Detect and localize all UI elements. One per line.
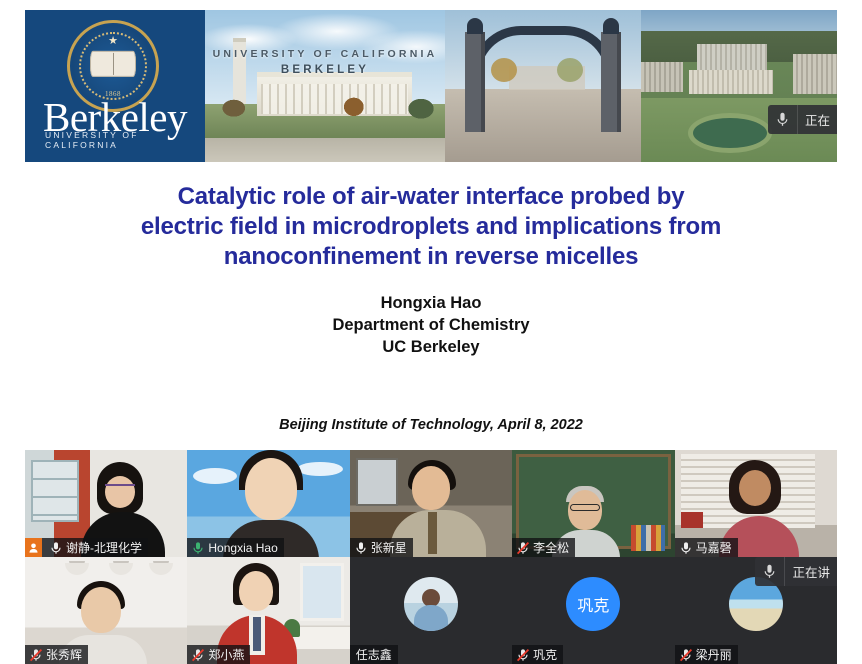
face <box>81 587 121 633</box>
participant-tile[interactable]: Hongxia Hao <box>187 450 349 557</box>
slide-title-line1: Catalytic role of air-water interface pr… <box>55 182 807 212</box>
slide-banner: ★ 1868 Berkeley UNIVERSITY OF CALIFORNIA… <box>25 10 837 162</box>
gate-lamp-left-icon <box>467 18 483 34</box>
participant-name: 巩克 <box>533 646 557 663</box>
participant-tile[interactable]: 张秀辉 <box>25 557 187 664</box>
oval-lawn <box>693 118 767 148</box>
microphone-icon <box>679 541 693 555</box>
participant-video-strip: 谢静-北理化学 <box>25 450 837 664</box>
slide-footer-venue-date: Beijing Institute of Technology, April 8… <box>25 417 837 433</box>
speaking-indicator-badge: 正在讲 <box>755 557 837 586</box>
host-badge-icon <box>25 538 42 557</box>
berkeley-wordmark-sub: UNIVERSITY OF CALIFORNIA <box>45 130 205 150</box>
gate-lamp-right-icon <box>603 18 619 34</box>
shared-slide: ★ 1868 Berkeley UNIVERSITY OF CALIFORNIA… <box>25 10 837 448</box>
speaking-indicator-text: 正在讲 <box>785 562 837 581</box>
participant-name: 张新星 <box>371 539 407 556</box>
participant-name: 李全松 <box>533 539 569 556</box>
participant-name: 郑小燕 <box>208 646 244 663</box>
participant-nameplate: 张秀辉 <box>25 645 88 664</box>
participant-tile[interactable]: 郑小燕 <box>187 557 349 664</box>
pendant-lamp <box>149 563 173 575</box>
participant-nameplate: 张新星 <box>350 538 413 557</box>
participant-row: 谢静-北理化学 <box>25 450 837 557</box>
microphone-muted-icon <box>679 648 693 662</box>
window <box>300 563 344 621</box>
zoom-meeting-screen: ★ 1868 Berkeley UNIVERSITY OF CALIFORNIA… <box>0 0 862 664</box>
face <box>412 466 450 510</box>
participant-nameplate: 任志鑫 <box>350 645 398 664</box>
bookshelf <box>31 460 79 522</box>
campus-building <box>641 62 683 92</box>
participant-name: 任志鑫 <box>350 646 392 663</box>
walkway <box>205 138 445 162</box>
microphone-icon <box>768 105 798 134</box>
banner-panel-campus-library-photo: UNIVERSITY OF CALIFORNIA BERKELEY <box>205 10 445 162</box>
participant-nameplate: 谢静-北理化学 <box>25 538 148 557</box>
tie <box>428 512 437 554</box>
participant-nameplate: Hongxia Hao <box>187 538 283 557</box>
glasses <box>570 504 600 511</box>
campus-building <box>793 54 837 94</box>
avatar-initials: 巩克 <box>566 577 620 631</box>
seal-star-icon: ★ <box>108 36 118 47</box>
face <box>239 571 273 611</box>
banner-panel-aerial-campus-photo: 正在 <box>641 10 837 162</box>
banner-caption-line2: BERKELEY <box>205 64 445 76</box>
cloud <box>193 468 237 484</box>
microphone-muted-icon <box>29 648 43 662</box>
presenter-department: Department of Chemistry <box>25 314 837 336</box>
participant-name: Hongxia Hao <box>208 541 277 555</box>
participant-nameplate: 巩克 <box>512 645 563 664</box>
microphone-icon <box>354 541 368 555</box>
face <box>739 470 771 506</box>
speaking-indicator-badge: 正在 <box>768 105 837 134</box>
background-object <box>681 512 703 528</box>
participant-nameplate: 李全松 <box>512 538 575 557</box>
campus-building <box>689 70 773 94</box>
banner-caption-line1: UNIVERSITY OF CALIFORNIA <box>205 48 445 60</box>
participant-name: 马嘉磬 <box>696 539 732 556</box>
microphone-muted-icon <box>191 648 205 662</box>
presenter-name: Hongxia Hao <box>25 292 837 314</box>
slide-presenter-block: Hongxia Hao Department of Chemistry UC B… <box>25 292 837 358</box>
participant-name: 张秀辉 <box>46 646 82 663</box>
participant-row: 张秀辉 <box>25 557 837 664</box>
participant-name: 梁丹丽 <box>696 646 732 663</box>
microphone-icon <box>49 541 63 555</box>
slide-body: Catalytic role of air-water interface pr… <box>25 162 837 448</box>
face <box>245 458 297 520</box>
presenter-organization: UC Berkeley <box>25 336 837 358</box>
sky-backdrop <box>641 10 837 31</box>
participant-name: 谢静-北理化学 <box>66 539 142 556</box>
gate-pillar-right <box>601 32 621 132</box>
pendant-lamp <box>109 563 133 575</box>
participant-nameplate: 梁丹丽 <box>675 645 738 664</box>
microphone-muted-icon <box>516 541 530 555</box>
speaking-indicator-text: 正在 <box>798 110 837 129</box>
pendant-lamp <box>65 563 89 575</box>
participant-tile[interactable]: 巩克 巩克 <box>512 557 674 664</box>
cloud <box>297 462 343 476</box>
slide-title-line2: electric field in microdroplets and impl… <box>55 212 807 242</box>
face <box>105 476 135 508</box>
participant-nameplate: 郑小燕 <box>187 645 250 664</box>
participant-tile[interactable]: 谢静-北理化学 <box>25 450 187 557</box>
campus-building <box>697 44 767 72</box>
participant-nameplate: 马嘉磬 <box>675 538 738 557</box>
participant-tile[interactable]: 马嘉磬 <box>675 450 837 557</box>
microphone-icon <box>755 557 785 586</box>
slide-title: Catalytic role of air-water interface pr… <box>55 182 807 272</box>
banner-panel-uc-seal-wordmark: ★ 1868 Berkeley UNIVERSITY OF CALIFORNIA <box>25 10 205 162</box>
window <box>356 458 398 506</box>
glasses <box>105 484 135 491</box>
microphone-icon <box>191 541 205 555</box>
banner-panel-sather-gate-photo <box>445 10 641 162</box>
participant-tile[interactable]: 李全松 <box>512 450 674 557</box>
microphone-muted-icon <box>516 648 530 662</box>
participant-tile[interactable]: 任志鑫 <box>350 557 512 664</box>
slide-title-line3: nanoconfinement in reverse micelles <box>55 242 807 272</box>
participant-tile[interactable]: 张新星 <box>350 450 512 557</box>
participant-tile[interactable]: 正在讲 梁丹丽 <box>675 557 837 664</box>
seal-open-book-icon <box>90 51 136 77</box>
gate-pillar-left <box>465 32 485 132</box>
avatar-photo-image <box>404 577 458 631</box>
avatar <box>404 577 458 631</box>
books <box>631 525 665 551</box>
tie <box>253 617 261 651</box>
trees <box>205 92 445 119</box>
